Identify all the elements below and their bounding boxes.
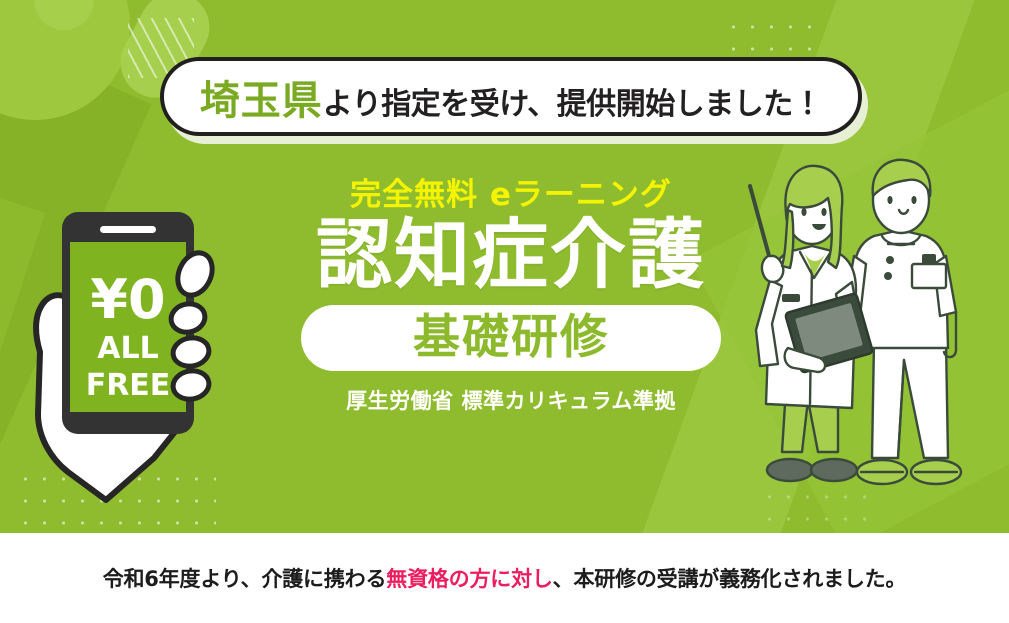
- phone-all-text: ALL: [97, 331, 158, 366]
- ribbon-prefecture-label: 埼玉県: [200, 68, 323, 126]
- ministry-note: 厚生労働省 標準カリキュラム準拠: [276, 385, 746, 415]
- footer-tail: 、本研修の受講が義務化されました。: [553, 567, 907, 591]
- ribbon-text: 埼玉県 より指定を受け、提供開始しました！: [200, 68, 822, 126]
- phone-free-text: FREE: [86, 368, 171, 403]
- ribbon-rest-label: より指定を受け、提供開始しました！: [323, 79, 822, 123]
- phone-in-hand-svg: ¥0 ALL FREE: [28, 200, 278, 510]
- female-caregiver: [750, 166, 873, 481]
- page-title: 認知症介護: [276, 215, 746, 295]
- footer-lead: 令和6年度より、介護に携わる: [103, 567, 387, 591]
- designation-ribbon: 埼玉県 より指定を受け、提供開始しました！: [160, 57, 862, 136]
- sub-pill: 基礎研修: [301, 305, 721, 371]
- footer-strip: 令和6年度より、介護に携わる無資格の方に対し、本研修の受講が義務化されました。: [0, 533, 1009, 623]
- background-circle-shape: [0, 0, 130, 120]
- phone-price-text: ¥0: [90, 268, 165, 331]
- phone-speaker-icon: [100, 226, 156, 233]
- sub-pill-label: 基礎研修: [413, 314, 609, 361]
- caregivers-illustration: [748, 152, 1000, 512]
- caregivers-svg: [748, 152, 1000, 512]
- green-background-band: 埼玉県 より指定を受け、提供開始しました！ ¥0 ALL: [0, 0, 1009, 533]
- hero-banner: 埼玉県 より指定を受け、提供開始しました！ ¥0 ALL: [0, 0, 1009, 623]
- footer-highlight: 無資格の方に対し: [386, 567, 552, 591]
- background-circle-shape-small: [34, 0, 94, 30]
- center-content: 完全無料 eラーニング 認知症介護 基礎研修 厚生労働省 標準カリキュラム準拠: [276, 180, 746, 415]
- phone-in-hand-illustration: ¥0 ALL FREE: [28, 200, 278, 510]
- ribbon-body: 埼玉県 より指定を受け、提供開始しました！: [160, 57, 862, 136]
- eyebrow-label: 完全無料 eラーニング: [276, 180, 746, 211]
- footer-note: 令和6年度より、介護に携わる無資格の方に対し、本研修の受講が義務化されました。: [103, 563, 907, 593]
